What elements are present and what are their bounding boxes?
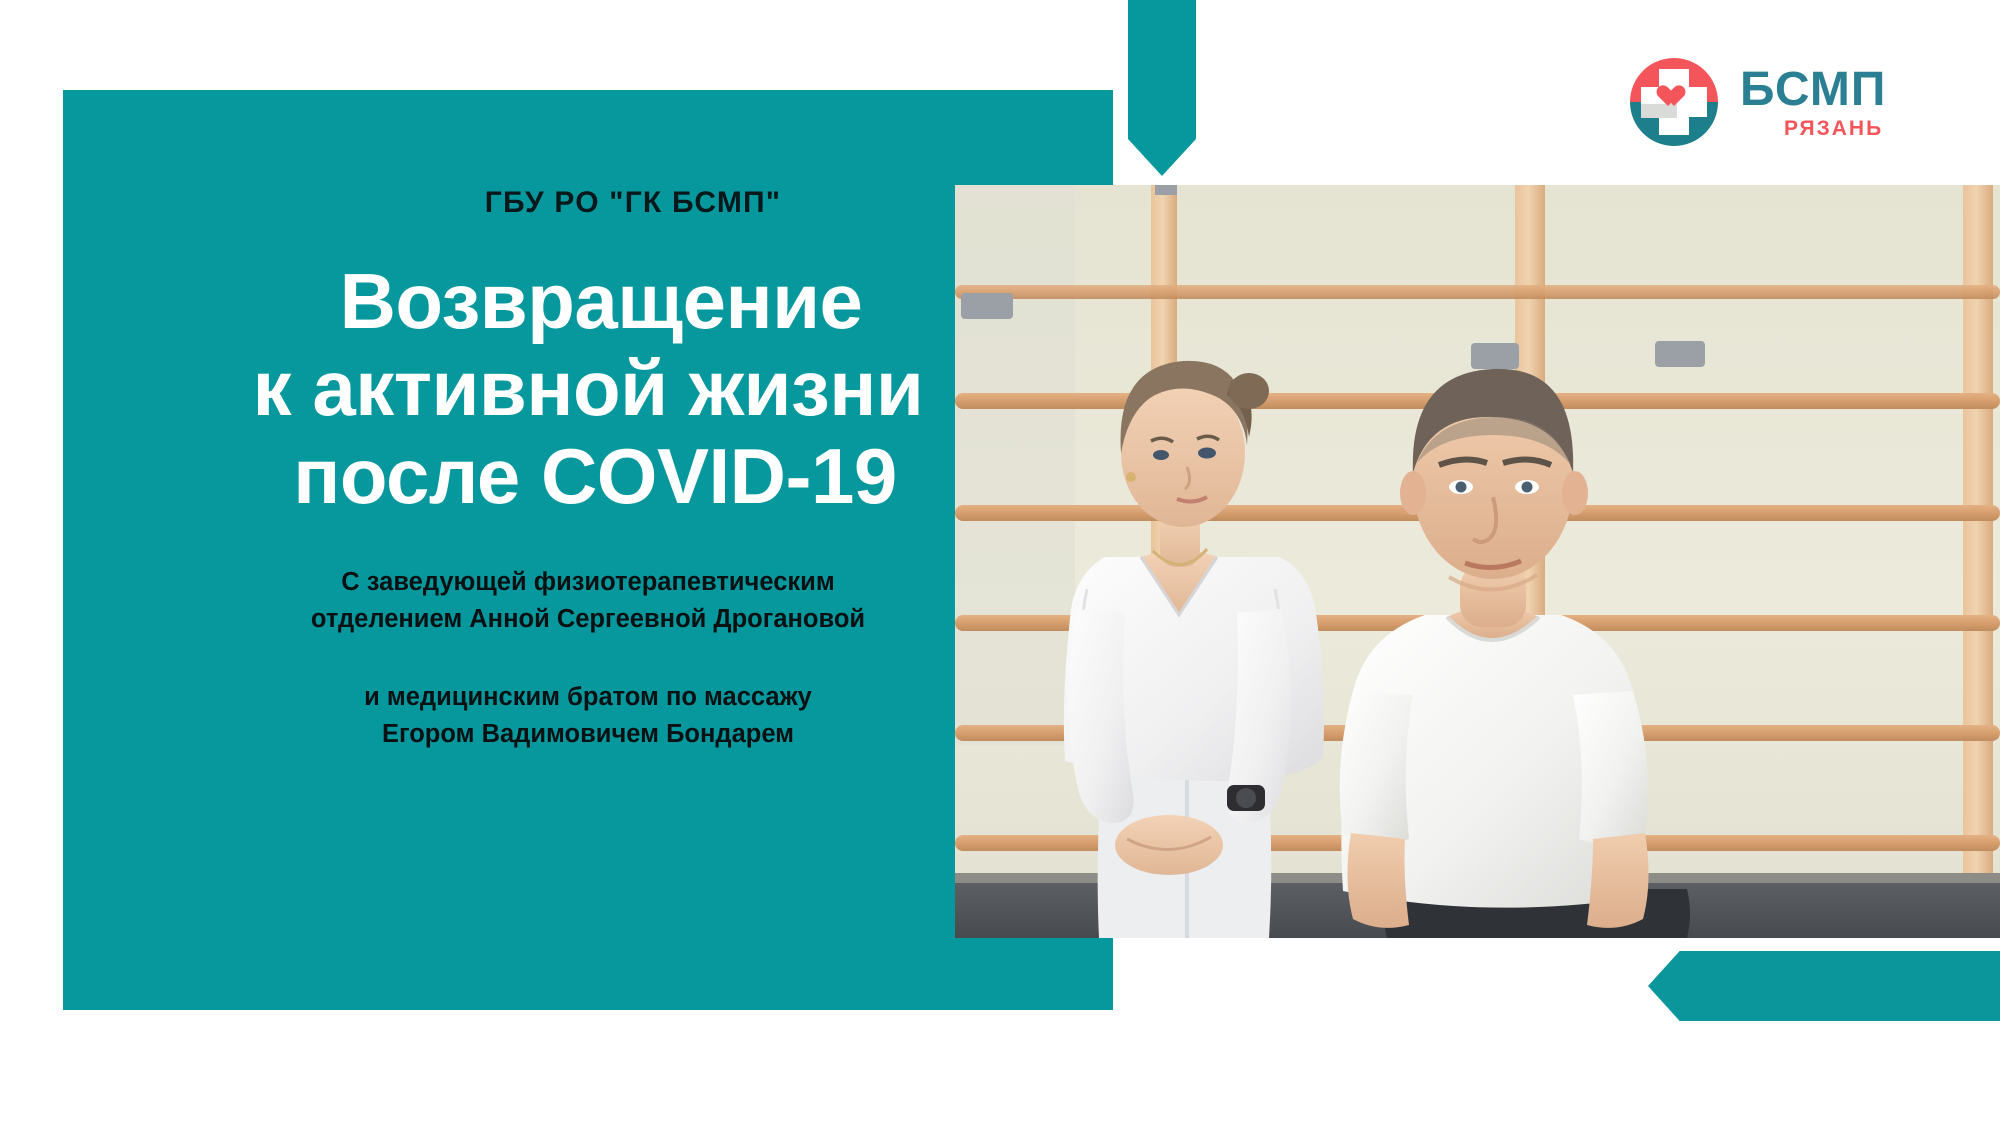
bsmp-logo: БСМП РЯЗАНЬ [1600,42,1930,162]
subtitle-line: и медицинским братом по массажу [141,679,1035,716]
subtitle-block-physician: С заведующей физиотерапевтическим отделе… [141,564,1035,638]
headline-line-3: после COVID-19 [141,433,1035,520]
page-title: Возвращение к активной жизни после COVID… [141,258,1035,520]
subtitle-line: отделением Анной Сергеевной Дрогановой [141,601,1035,638]
headline-line-2: к активной жизни [141,345,1035,432]
teal-left-arrow-banner [1648,951,2000,1021]
teal-down-pennant [1128,0,1196,176]
slide-text-column: ГБУ РО "ГК БСМП" Возвращение к активной … [63,90,1113,1010]
subtitle-block-nurse: и медицинским братом по массажу Егором В… [141,679,1035,753]
subtitle-line: Егором Вадимовичем Бондарем [141,716,1035,753]
medical-cross-heart-icon [1630,58,1718,146]
subtitle-line: С заведующей физиотерапевтическим [141,564,1035,601]
presentation-slide: ГБУ РО "ГК БСМП" Возвращение к активной … [0,0,2000,1125]
headline-line-1: Возвращение [141,258,1035,345]
logo-sub-text: РЯЗАНЬ [1784,118,1883,139]
logo-main-text: БСМП [1740,66,1886,114]
organization-name: ГБУ РО "ГК БСМП" [141,186,1035,220]
logo-wordmark: БСМП РЯЗАНЬ [1740,66,1886,139]
heart-icon [1661,86,1687,110]
